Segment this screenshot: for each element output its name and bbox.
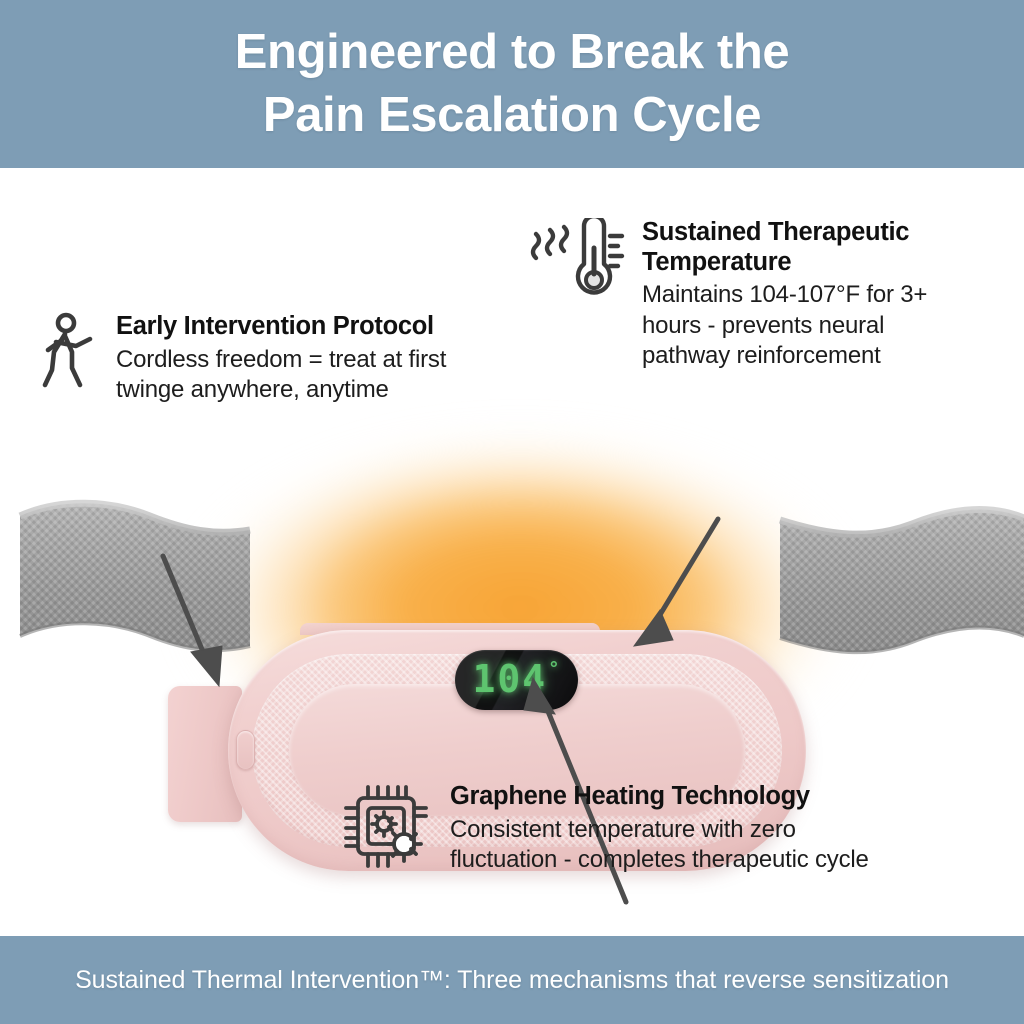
arrow-to-tab xyxy=(163,556,222,686)
thermometer-icon xyxy=(528,218,626,313)
footer-tagline: Sustained Thermal Intervention™: Three m… xyxy=(75,966,949,995)
callout-graphene-heating: Graphene Heating Technology Consistent t… xyxy=(340,782,960,877)
walking-person-icon xyxy=(38,312,100,393)
temperature-value: 104 xyxy=(472,657,547,701)
callout-title: Graphene Heating Technology xyxy=(450,782,869,812)
header-band: Engineered to Break the Pain Escalation … xyxy=(0,0,1024,168)
callout-body: Consistent temperature with zero fluctua… xyxy=(450,815,869,876)
chip-gears-icon xyxy=(340,782,434,877)
callout-early-intervention: Early Intervention Protocol Cordless fre… xyxy=(38,312,518,406)
arrow-to-pad xyxy=(634,519,718,646)
temperature-readout: 104° xyxy=(455,650,578,710)
led-display[interactable]: 104° xyxy=(455,650,578,710)
power-button[interactable] xyxy=(236,730,255,770)
belt-right-strap xyxy=(780,509,1024,652)
callout-title: Sustained Therapeutic Temperature xyxy=(642,218,998,277)
callout-body: Cordless freedom = treat at first twinge… xyxy=(116,345,446,406)
belt-left-strap xyxy=(20,503,250,650)
product-stage: 104° xyxy=(0,168,1024,936)
callout-title: Early Intervention Protocol xyxy=(116,312,446,342)
page-title: Engineered to Break the Pain Escalation … xyxy=(195,21,829,146)
footer-band: Sustained Thermal Intervention™: Three m… xyxy=(0,936,1024,1024)
callout-sustained-temperature: Sustained Therapeutic Temperature Mainta… xyxy=(528,218,998,372)
callout-body: Maintains 104-107°F for 3+ hours - preve… xyxy=(642,280,998,371)
infographic-page: Engineered to Break the Pain Escalation … xyxy=(0,0,1024,1024)
degree-symbol: ° xyxy=(548,658,561,680)
